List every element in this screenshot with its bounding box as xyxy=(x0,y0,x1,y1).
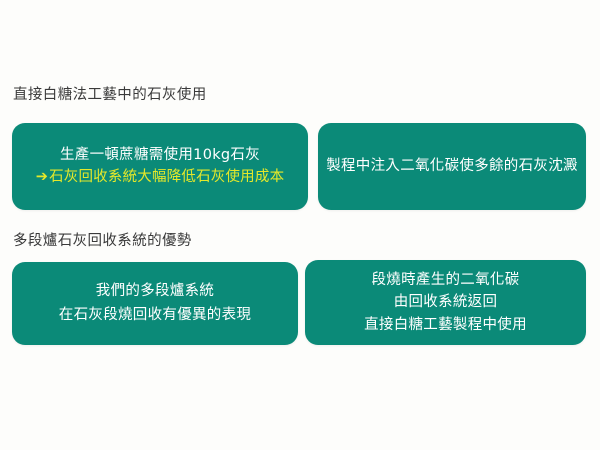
card-line: 由回收系統返回 xyxy=(394,291,498,313)
card-line: 直接白糖工藝製程中使用 xyxy=(364,314,527,336)
card-multiple-hearth-performance: 我們的多段爐系統 在石灰段燒回收有優異的表現 xyxy=(12,262,298,345)
arrow-right-icon: ➔ xyxy=(36,170,48,185)
card-line: 製程中注入二氧化碳使多餘的石灰沈澱 xyxy=(326,156,578,178)
card-line: 生產一頓蔗糖需使用10kg石灰 xyxy=(60,145,260,167)
card-line: 我們的多段爐系統 xyxy=(96,280,214,303)
section-heading-lime-usage: 直接白糖法工藝中的石灰使用 xyxy=(13,88,207,104)
infographic-slide: 直接白糖法工藝中的石灰使用 生產一頓蔗糖需使用10kg石灰 ➔石灰回收系統大幅降… xyxy=(0,0,600,450)
card-lime-consumption: 生產一頓蔗糖需使用10kg石灰 ➔石灰回收系統大幅降低石灰使用成本 xyxy=(12,123,308,210)
card-co2-recycling-loop: 段燒時產生的二氧化碳 由回收系統返回 直接白糖工藝製程中使用 xyxy=(305,260,586,345)
card-line: 段燒時產生的二氧化碳 xyxy=(372,269,520,291)
section-heading-system-advantages: 多段爐石灰回收系統的優勢 xyxy=(13,234,192,250)
card-co2-injection: 製程中注入二氧化碳使多餘的石灰沈澱 xyxy=(318,123,586,210)
card-line-highlight-text: 石灰回收系統大幅降低石灰使用成本 xyxy=(49,169,284,185)
card-line-highlight: ➔石灰回收系統大幅降低石灰使用成本 xyxy=(36,167,285,189)
card-line: 在石灰段燒回收有優異的表現 xyxy=(59,304,251,327)
